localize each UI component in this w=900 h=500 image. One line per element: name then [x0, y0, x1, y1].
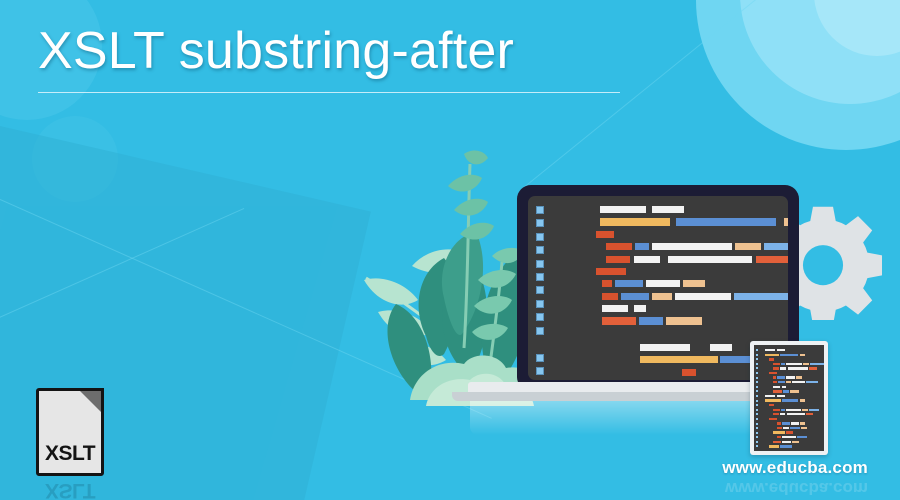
code-token-blue	[780, 445, 792, 447]
code-line	[763, 427, 822, 429]
file-body: XSLT	[36, 388, 104, 476]
code-token-red	[596, 231, 614, 238]
code-token-light_blue	[810, 363, 824, 365]
code-indent	[554, 305, 602, 306]
gutter-marker	[536, 260, 544, 268]
code-token-white	[634, 256, 660, 263]
code-line	[763, 372, 822, 374]
code-token-coral	[773, 390, 782, 392]
gutter-marker	[756, 386, 758, 388]
code-line	[763, 445, 822, 447]
file-reflection-label: XSLT	[36, 478, 104, 500]
code-token-light_blue	[809, 409, 819, 411]
code-line	[763, 390, 822, 392]
code-gap	[776, 218, 784, 219]
code-indent	[554, 293, 602, 294]
code-token-white	[602, 305, 628, 312]
code-token-white	[765, 349, 775, 351]
code-token-red	[602, 293, 618, 300]
code-indent	[763, 427, 777, 428]
code-token-peach	[790, 390, 799, 392]
gutter-marker	[756, 377, 758, 379]
code-gap	[660, 256, 668, 257]
code-line	[763, 418, 822, 420]
file-fold-icon	[80, 391, 101, 412]
code-token-coral	[756, 256, 788, 263]
code-token-red	[602, 280, 612, 287]
code-indent	[554, 356, 640, 357]
code-token-peach	[735, 243, 761, 250]
code-indent	[763, 436, 777, 437]
code-line	[554, 317, 784, 324]
code-indent	[763, 390, 773, 391]
gutter-marker	[756, 404, 758, 406]
code-token-white	[782, 386, 786, 388]
code-token-red	[773, 409, 780, 411]
gutter-marker	[756, 413, 758, 415]
code-token-peach	[652, 293, 672, 300]
code-token-white	[787, 413, 805, 415]
code-indent	[554, 256, 606, 257]
tablet-code-content	[763, 349, 822, 450]
code-token-red	[682, 369, 696, 376]
code-indent	[554, 218, 600, 219]
code-indent	[763, 363, 773, 364]
code-line	[763, 399, 822, 401]
code-token-light_blue	[764, 243, 788, 250]
code-token-blue	[635, 243, 649, 250]
code-token-red	[769, 358, 774, 360]
code-token-white	[668, 256, 752, 263]
code-token-white	[777, 349, 785, 351]
code-token-red	[606, 256, 630, 263]
code-token-white	[782, 441, 791, 443]
code-token-peach	[784, 218, 788, 225]
code-token-peach	[666, 317, 702, 324]
gutter-marker	[756, 436, 758, 438]
tablet-screen	[754, 345, 824, 451]
code-line	[763, 409, 822, 411]
code-token-white	[634, 305, 646, 312]
site-url: www.educba.com	[722, 458, 868, 478]
gutter-marker	[756, 418, 758, 420]
code-gap	[690, 344, 710, 345]
laptop-screen	[528, 196, 788, 380]
title-underline	[38, 92, 620, 93]
gutter-marker	[536, 273, 544, 281]
code-indent	[763, 422, 777, 423]
gutter-marker	[756, 363, 758, 365]
code-token-red	[769, 372, 777, 374]
code-line	[763, 395, 822, 397]
code-token-coral	[809, 367, 817, 369]
code-line	[554, 231, 784, 238]
code-token-peach	[792, 441, 799, 443]
code-token-coral	[773, 441, 781, 443]
code-token-blue	[778, 381, 785, 383]
code-token-peach	[683, 280, 705, 287]
code-indent	[554, 280, 602, 281]
gutter-marker	[536, 313, 544, 321]
code-line	[554, 218, 784, 225]
code-line	[763, 354, 822, 356]
code-line	[763, 422, 822, 424]
code-token-blue	[782, 422, 790, 424]
code-token-white	[792, 381, 805, 383]
gutter-marker	[756, 354, 758, 356]
code-indent	[763, 376, 773, 377]
code-token-white	[786, 376, 795, 378]
code-token-white	[652, 206, 684, 213]
code-token-blue	[615, 280, 643, 287]
gutter-marker	[756, 423, 758, 425]
code-token-orange	[640, 356, 718, 363]
code-token-white	[652, 243, 732, 250]
gutter-marker	[756, 441, 758, 443]
gutter-marker	[756, 349, 758, 351]
code-gutter	[536, 206, 544, 380]
file-label: XSLT	[39, 442, 101, 466]
code-indent	[763, 386, 773, 387]
code-token-red	[786, 431, 793, 433]
gutter-marker	[756, 409, 758, 411]
code-token-peach	[800, 354, 805, 356]
code-line	[554, 305, 784, 312]
code-line	[554, 243, 784, 250]
code-indent	[554, 206, 600, 207]
code-token-blue	[720, 356, 750, 363]
gutter-marker	[536, 233, 544, 241]
tablet-illustration	[750, 341, 828, 455]
code-token-peach	[800, 422, 805, 424]
code-token-orange	[765, 399, 781, 401]
code-token-orange	[600, 218, 670, 225]
code-line	[554, 256, 784, 263]
gutter-marker	[756, 358, 758, 360]
code-line	[763, 413, 822, 415]
gutter-marker	[536, 286, 544, 294]
gutter-marker	[756, 395, 758, 397]
code-token-white	[773, 386, 780, 388]
code-token-orange	[769, 445, 779, 447]
banner-image: XSLT substring-after	[0, 0, 900, 500]
code-token-peach	[796, 376, 802, 378]
xslt-file-reflection: XSLT	[36, 478, 104, 500]
code-line	[763, 358, 822, 360]
gutter-marker	[536, 300, 544, 308]
gutter-marker	[756, 381, 758, 383]
code-token-peach	[801, 427, 807, 429]
gutter-marker	[756, 372, 758, 374]
code-line	[763, 436, 822, 438]
code-token-coral	[602, 317, 636, 324]
code-token-blue	[777, 376, 785, 378]
gutter-marker	[536, 367, 544, 375]
code-token-blue	[790, 427, 800, 429]
code-token-white	[791, 422, 799, 424]
code-line	[554, 293, 784, 300]
code-token-orange	[765, 354, 779, 356]
gutter-marker	[756, 390, 758, 392]
tablet-frame	[750, 341, 828, 455]
code-indent	[763, 413, 773, 414]
code-line	[554, 268, 784, 275]
code-token-orange	[773, 431, 785, 433]
plant-center-sprig	[448, 151, 494, 240]
code-token-red	[606, 243, 632, 250]
code-indent	[554, 243, 606, 244]
code-line	[763, 404, 822, 406]
gutter-marker	[536, 354, 544, 362]
code-indent	[763, 367, 773, 368]
code-line	[763, 349, 822, 351]
code-line	[763, 367, 822, 369]
code-indent	[554, 317, 602, 318]
code-indent	[554, 231, 596, 232]
code-indent	[554, 369, 682, 370]
code-line	[763, 376, 822, 378]
code-token-coral	[806, 413, 813, 415]
page-title: XSLT substring-after	[38, 24, 620, 79]
tablet-code-gutter	[756, 349, 760, 450]
code-indent	[763, 381, 773, 382]
code-indent	[763, 409, 773, 410]
code-line	[554, 206, 784, 213]
code-token-white	[675, 293, 731, 300]
code-token-white	[786, 363, 802, 365]
code-token-white	[765, 395, 775, 397]
gutter-marker	[756, 445, 758, 447]
gutter-marker	[756, 367, 758, 369]
gutter-marker	[756, 400, 758, 402]
code-token-white	[782, 436, 796, 438]
code-token-white	[600, 206, 646, 213]
code-token-light_blue	[734, 293, 788, 300]
gutter-marker	[536, 327, 544, 335]
site-url-reflection: www.educba.com	[725, 478, 868, 498]
gutter-marker	[756, 427, 758, 429]
code-token-red	[769, 418, 777, 420]
code-indent	[763, 431, 773, 432]
code-token-white	[786, 409, 801, 411]
code-indent	[554, 268, 596, 269]
code-token-blue	[639, 317, 663, 324]
code-token-white	[640, 344, 690, 351]
gutter-marker	[536, 246, 544, 254]
code-line	[763, 386, 822, 388]
code-line	[763, 363, 822, 365]
code-token-blue	[797, 436, 807, 438]
code-token-blue	[782, 399, 798, 401]
gutter-gap	[536, 340, 544, 354]
code-indent	[763, 441, 773, 442]
code-token-blue	[621, 293, 649, 300]
code-token-peach	[800, 399, 805, 401]
code-token-white	[777, 395, 785, 397]
code-token-red	[773, 363, 780, 365]
code-token-white	[710, 344, 732, 351]
gutter-marker	[536, 206, 544, 214]
code-token-red	[769, 404, 774, 406]
code-line	[763, 431, 822, 433]
code-token-red	[596, 268, 626, 275]
gutter-marker	[536, 219, 544, 227]
code-token-white	[646, 280, 680, 287]
xslt-file-icon: XSLT	[36, 388, 104, 476]
code-line	[554, 280, 784, 287]
gutter-marker	[756, 432, 758, 434]
code-token-blue	[676, 218, 776, 225]
code-line	[763, 381, 822, 383]
code-token-light_blue	[806, 381, 818, 383]
code-indent	[554, 344, 640, 345]
code-token-white	[788, 367, 808, 369]
code-line	[763, 441, 822, 443]
code-token-blue	[780, 354, 798, 356]
title-block: XSLT substring-after	[38, 24, 620, 93]
